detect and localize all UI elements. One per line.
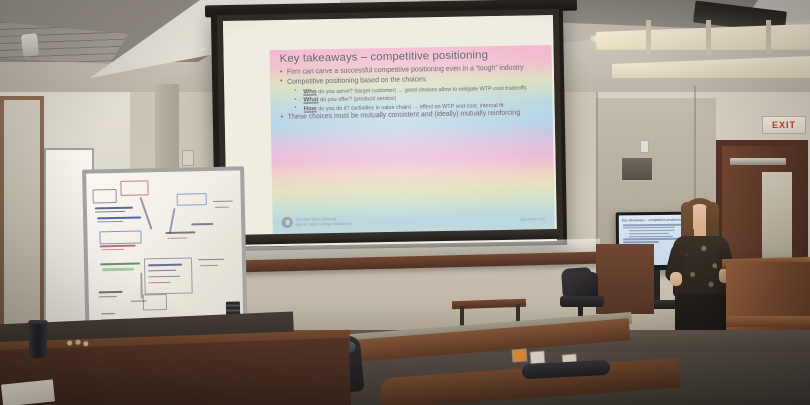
wood-cabinet bbox=[596, 244, 654, 314]
projection-screen-surface: Key takeaways – competitive positioning … bbox=[223, 15, 557, 247]
slide-footer-note: Slide Footer Text bbox=[520, 217, 545, 221]
slide-footer-org: The Ohio State UniversityMax M. Fisher C… bbox=[296, 217, 352, 227]
slide-body: Firm can carve a successful competitive … bbox=[280, 64, 545, 124]
ceiling-speaker bbox=[21, 33, 39, 57]
wall-outlet-plate[interactable] bbox=[182, 150, 194, 166]
wall-seam bbox=[596, 92, 598, 252]
exit-sign-label: EXIT bbox=[772, 120, 796, 130]
slide-keyword: How bbox=[304, 105, 317, 112]
university-logo-icon bbox=[282, 217, 293, 228]
papers[interactable] bbox=[1, 379, 55, 405]
podium-rail bbox=[726, 316, 810, 327]
slide-keyword: Who bbox=[303, 88, 317, 95]
door-window bbox=[762, 172, 792, 264]
ledge-mullion bbox=[766, 20, 771, 54]
classroom-photo-scene: EXIT Key takeaways – competitive positio… bbox=[0, 0, 810, 405]
door-closer-arm bbox=[730, 158, 786, 165]
ledge-mullion bbox=[646, 20, 651, 54]
ledge-mullion bbox=[706, 20, 711, 54]
travel-mug[interactable] bbox=[29, 324, 47, 358]
presenter-hand-left bbox=[670, 272, 682, 286]
power-outlet-orange[interactable] bbox=[512, 348, 528, 362]
slide-title: Key takeaways – competitive positioning bbox=[280, 48, 548, 65]
slide-footer: The Ohio State UniversityMax M. Fisher C… bbox=[282, 216, 352, 228]
exit-sign: EXIT bbox=[762, 116, 806, 134]
projected-slide: Key takeaways – competitive positioning … bbox=[269, 45, 554, 235]
crumbs bbox=[64, 339, 92, 347]
slide-sub-bullet-text: do you offer? (product/ service) bbox=[319, 96, 397, 103]
light-switch-plate[interactable] bbox=[640, 140, 649, 153]
slide-keyword: What bbox=[303, 97, 318, 104]
left-door-panel[interactable] bbox=[4, 100, 40, 324]
wall-mounted-frame bbox=[620, 156, 654, 182]
whiteboard-surface bbox=[86, 170, 243, 332]
ceiling-downlight bbox=[196, 46, 210, 52]
